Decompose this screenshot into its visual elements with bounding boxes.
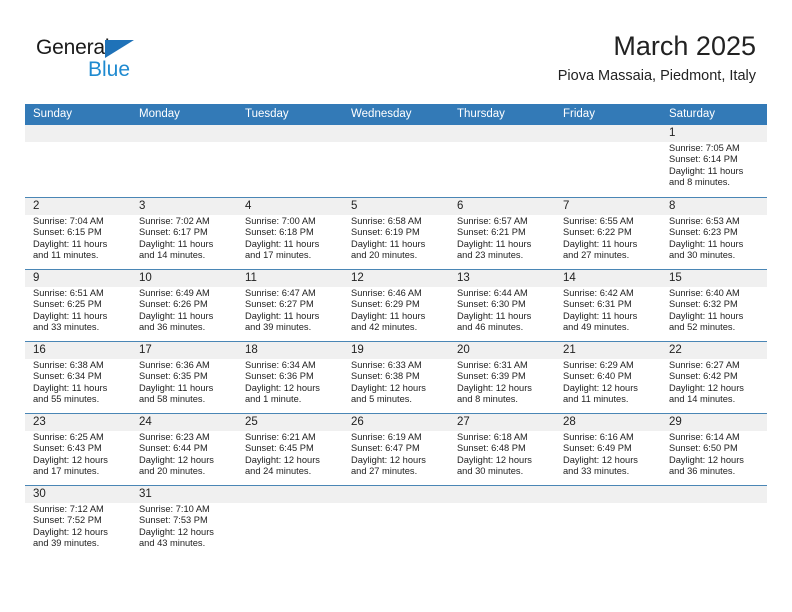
day-info-line: Daylight: 11 hours: [245, 311, 339, 322]
weekday-header-saturday: Saturday: [661, 104, 767, 125]
day-info-line: Sunrise: 6:44 AM: [457, 288, 551, 299]
day-sun-info: Sunrise: 6:36 AMSunset: 6:35 PMDaylight:…: [139, 360, 233, 405]
day-info-line: Daylight: 11 hours: [351, 239, 445, 250]
day-number: 29: [669, 414, 763, 431]
day-info-line: Sunrise: 6:18 AM: [457, 432, 551, 443]
day-number: [669, 486, 763, 503]
day-number: 14: [563, 270, 657, 287]
calendar-day-cell-empty: [343, 125, 449, 197]
calendar-day-cell-empty: [661, 486, 767, 557]
day-number: 22: [669, 342, 763, 359]
calendar-day-cell-empty: [131, 125, 237, 197]
calendar-week-cells: 30Sunrise: 7:12 AMSunset: 7:52 PMDayligh…: [25, 486, 767, 557]
day-sun-info: Sunrise: 6:40 AMSunset: 6:32 PMDaylight:…: [669, 288, 763, 333]
calendar-day-cell-empty: [237, 486, 343, 557]
day-sun-info: Sunrise: 7:02 AMSunset: 6:17 PMDaylight:…: [139, 216, 233, 261]
day-sun-info: Sunrise: 7:00 AMSunset: 6:18 PMDaylight:…: [245, 216, 339, 261]
day-info-line: Sunrise: 6:46 AM: [351, 288, 445, 299]
calendar-day-cell[interactable]: 24Sunrise: 6:23 AMSunset: 6:44 PMDayligh…: [131, 414, 237, 485]
logo-text-blue: Blue: [88, 58, 130, 82]
day-info-line: and 43 minutes.: [139, 538, 233, 549]
calendar-week-cells: 9Sunrise: 6:51 AMSunset: 6:25 PMDaylight…: [25, 270, 767, 341]
day-info-line: and 46 minutes.: [457, 322, 551, 333]
day-number: 27: [457, 414, 551, 431]
day-info-line: Sunset: 6:47 PM: [351, 443, 445, 454]
day-info-line: and 1 minute.: [245, 394, 339, 405]
day-info-line: Daylight: 11 hours: [563, 239, 657, 250]
day-info-line: Sunset: 6:31 PM: [563, 299, 657, 310]
day-info-line: Sunrise: 6:55 AM: [563, 216, 657, 227]
calendar-day-cell[interactable]: 22Sunrise: 6:27 AMSunset: 6:42 PMDayligh…: [661, 342, 767, 413]
day-info-line: Daylight: 12 hours: [563, 455, 657, 466]
day-sun-info: Sunrise: 6:27 AMSunset: 6:42 PMDaylight:…: [669, 360, 763, 405]
day-number: 6: [457, 198, 551, 215]
day-info-line: and 17 minutes.: [245, 250, 339, 261]
day-info-line: Sunset: 6:40 PM: [563, 371, 657, 382]
calendar-day-cell[interactable]: 29Sunrise: 6:14 AMSunset: 6:50 PMDayligh…: [661, 414, 767, 485]
day-info-line: Sunrise: 6:25 AM: [33, 432, 127, 443]
day-info-line: and 27 minutes.: [563, 250, 657, 261]
day-info-line: Sunset: 6:45 PM: [245, 443, 339, 454]
day-info-line: Sunrise: 7:05 AM: [669, 143, 763, 154]
day-info-line: Sunset: 6:48 PM: [457, 443, 551, 454]
day-info-line: and 8 minutes.: [669, 177, 763, 188]
day-info-line: Daylight: 11 hours: [33, 239, 127, 250]
day-number: 4: [245, 198, 339, 215]
calendar-day-cell[interactable]: 23Sunrise: 6:25 AMSunset: 6:43 PMDayligh…: [25, 414, 131, 485]
calendar-page: General Blue March 2025 Piova Massaia, P…: [0, 0, 792, 612]
day-number: 10: [139, 270, 233, 287]
day-info-line: Sunset: 6:34 PM: [33, 371, 127, 382]
day-number: 13: [457, 270, 551, 287]
day-sun-info: Sunrise: 6:18 AMSunset: 6:48 PMDaylight:…: [457, 432, 551, 477]
day-number: 17: [139, 342, 233, 359]
day-info-line: Sunset: 6:14 PM: [669, 154, 763, 165]
title-block: March 2025 Piova Massaia, Piedmont, Ital…: [558, 30, 756, 85]
day-sun-info: Sunrise: 6:42 AMSunset: 6:31 PMDaylight:…: [563, 288, 657, 333]
day-number: 12: [351, 270, 445, 287]
calendar-week-row: 23Sunrise: 6:25 AMSunset: 6:43 PMDayligh…: [25, 413, 767, 485]
day-sun-info: Sunrise: 7:05 AMSunset: 6:14 PMDaylight:…: [669, 143, 763, 188]
day-info-line: Sunset: 6:18 PM: [245, 227, 339, 238]
calendar-week-row: 1Sunrise: 7:05 AMSunset: 6:14 PMDaylight…: [25, 125, 767, 197]
day-sun-info: Sunrise: 6:53 AMSunset: 6:23 PMDaylight:…: [669, 216, 763, 261]
calendar-week-row: 9Sunrise: 6:51 AMSunset: 6:25 PMDaylight…: [25, 269, 767, 341]
day-info-line: Sunset: 6:25 PM: [33, 299, 127, 310]
calendar-week-cells: 16Sunrise: 6:38 AMSunset: 6:34 PMDayligh…: [25, 342, 767, 413]
day-info-line: Sunrise: 6:23 AM: [139, 432, 233, 443]
calendar-day-cell[interactable]: 12Sunrise: 6:46 AMSunset: 6:29 PMDayligh…: [343, 270, 449, 341]
day-info-line: Sunset: 6:44 PM: [139, 443, 233, 454]
day-info-line: Sunrise: 6:34 AM: [245, 360, 339, 371]
day-info-line: Daylight: 12 hours: [245, 455, 339, 466]
calendar-day-cell[interactable]: 26Sunrise: 6:19 AMSunset: 6:47 PMDayligh…: [343, 414, 449, 485]
calendar-day-cell[interactable]: 2Sunrise: 7:04 AMSunset: 6:15 PMDaylight…: [25, 198, 131, 269]
day-info-line: Daylight: 11 hours: [351, 311, 445, 322]
calendar-day-cell[interactable]: 4Sunrise: 7:00 AMSunset: 6:18 PMDaylight…: [237, 198, 343, 269]
calendar-day-cell[interactable]: 8Sunrise: 6:53 AMSunset: 6:23 PMDaylight…: [661, 198, 767, 269]
day-info-line: and 11 minutes.: [33, 250, 127, 261]
day-sun-info: Sunrise: 6:33 AMSunset: 6:38 PMDaylight:…: [351, 360, 445, 405]
day-sun-info: Sunrise: 6:25 AMSunset: 6:43 PMDaylight:…: [33, 432, 127, 477]
day-number: 9: [33, 270, 127, 287]
day-info-line: Daylight: 11 hours: [457, 239, 551, 250]
day-info-line: Sunset: 6:23 PM: [669, 227, 763, 238]
day-info-line: Sunrise: 6:27 AM: [669, 360, 763, 371]
day-sun-info: Sunrise: 6:14 AMSunset: 6:50 PMDaylight:…: [669, 432, 763, 477]
day-number: 25: [245, 414, 339, 431]
day-info-line: and 27 minutes.: [351, 466, 445, 477]
day-info-line: Sunrise: 6:29 AM: [563, 360, 657, 371]
day-info-line: Daylight: 12 hours: [457, 383, 551, 394]
weekday-header-row: Sunday Monday Tuesday Wednesday Thursday…: [25, 104, 767, 125]
day-info-line: and 49 minutes.: [563, 322, 657, 333]
calendar-day-cell-empty: [449, 486, 555, 557]
day-info-line: and 8 minutes.: [457, 394, 551, 405]
day-number: 19: [351, 342, 445, 359]
calendar-day-cell[interactable]: 7Sunrise: 6:55 AMSunset: 6:22 PMDaylight…: [555, 198, 661, 269]
day-info-line: Sunrise: 6:42 AM: [563, 288, 657, 299]
calendar-day-cell[interactable]: 6Sunrise: 6:57 AMSunset: 6:21 PMDaylight…: [449, 198, 555, 269]
day-info-line: Sunset: 6:26 PM: [139, 299, 233, 310]
day-info-line: and 5 minutes.: [351, 394, 445, 405]
day-info-line: Daylight: 12 hours: [351, 455, 445, 466]
day-info-line: Sunset: 6:43 PM: [33, 443, 127, 454]
calendar-day-cell-empty: [555, 486, 661, 557]
day-info-line: Daylight: 11 hours: [669, 239, 763, 250]
day-info-line: Sunset: 6:27 PM: [245, 299, 339, 310]
day-info-line: and 17 minutes.: [33, 466, 127, 477]
page-title: March 2025: [558, 30, 756, 62]
day-info-line: Sunset: 7:53 PM: [139, 515, 233, 526]
day-info-line: and 24 minutes.: [245, 466, 339, 477]
day-info-line: Sunset: 6:32 PM: [669, 299, 763, 310]
weekday-header-thursday: Thursday: [449, 104, 555, 125]
day-info-line: Daylight: 12 hours: [139, 455, 233, 466]
calendar-week-cells: 2Sunrise: 7:04 AMSunset: 6:15 PMDaylight…: [25, 198, 767, 269]
day-number: [351, 486, 445, 503]
day-number: 28: [563, 414, 657, 431]
day-number: [563, 486, 657, 503]
day-sun-info: Sunrise: 6:31 AMSunset: 6:39 PMDaylight:…: [457, 360, 551, 405]
calendar-day-cell[interactable]: 5Sunrise: 6:58 AMSunset: 6:19 PMDaylight…: [343, 198, 449, 269]
calendar-day-cell[interactable]: 18Sunrise: 6:34 AMSunset: 6:36 PMDayligh…: [237, 342, 343, 413]
day-sun-info: Sunrise: 7:10 AMSunset: 7:53 PMDaylight:…: [139, 504, 233, 549]
day-sun-info: Sunrise: 6:47 AMSunset: 6:27 PMDaylight:…: [245, 288, 339, 333]
day-number: 26: [351, 414, 445, 431]
day-info-line: Sunrise: 7:12 AM: [33, 504, 127, 515]
day-info-line: Sunset: 6:15 PM: [33, 227, 127, 238]
calendar-grid: Sunday Monday Tuesday Wednesday Thursday…: [25, 104, 767, 557]
day-info-line: and 58 minutes.: [139, 394, 233, 405]
day-info-line: Sunset: 6:35 PM: [139, 371, 233, 382]
day-info-line: Sunrise: 6:40 AM: [669, 288, 763, 299]
weekday-header-tuesday: Tuesday: [237, 104, 343, 125]
day-number: [139, 125, 233, 142]
day-info-line: Sunrise: 6:53 AM: [669, 216, 763, 227]
day-info-line: Sunset: 6:19 PM: [351, 227, 445, 238]
day-info-line: Sunrise: 6:49 AM: [139, 288, 233, 299]
day-number: 2: [33, 198, 127, 215]
day-info-line: Sunset: 6:30 PM: [457, 299, 551, 310]
calendar-day-cell[interactable]: 27Sunrise: 6:18 AMSunset: 6:48 PMDayligh…: [449, 414, 555, 485]
day-info-line: Sunrise: 6:58 AM: [351, 216, 445, 227]
calendar-day-cell[interactable]: 14Sunrise: 6:42 AMSunset: 6:31 PMDayligh…: [555, 270, 661, 341]
day-info-line: Daylight: 12 hours: [245, 383, 339, 394]
day-number: [563, 125, 657, 142]
day-info-line: and 52 minutes.: [669, 322, 763, 333]
day-info-line: Sunset: 7:52 PM: [33, 515, 127, 526]
day-info-line: and 36 minutes.: [669, 466, 763, 477]
calendar-week-cells: 1Sunrise: 7:05 AMSunset: 6:14 PMDaylight…: [25, 125, 767, 197]
day-number: 21: [563, 342, 657, 359]
day-info-line: Daylight: 12 hours: [563, 383, 657, 394]
calendar-week-row: 30Sunrise: 7:12 AMSunset: 7:52 PMDayligh…: [25, 485, 767, 557]
calendar-day-cell[interactable]: 15Sunrise: 6:40 AMSunset: 6:32 PMDayligh…: [661, 270, 767, 341]
calendar-day-cell[interactable]: 10Sunrise: 6:49 AMSunset: 6:26 PMDayligh…: [131, 270, 237, 341]
day-number: [245, 125, 339, 142]
day-sun-info: Sunrise: 6:23 AMSunset: 6:44 PMDaylight:…: [139, 432, 233, 477]
day-sun-info: Sunrise: 6:49 AMSunset: 6:26 PMDaylight:…: [139, 288, 233, 333]
day-info-line: Daylight: 12 hours: [457, 455, 551, 466]
day-info-line: Sunrise: 6:14 AM: [669, 432, 763, 443]
calendar-day-cell[interactable]: 17Sunrise: 6:36 AMSunset: 6:35 PMDayligh…: [131, 342, 237, 413]
day-info-line: Sunset: 6:38 PM: [351, 371, 445, 382]
day-info-line: Daylight: 11 hours: [669, 311, 763, 322]
day-info-line: Daylight: 12 hours: [33, 527, 127, 538]
day-info-line: Daylight: 11 hours: [139, 383, 233, 394]
calendar-day-cell[interactable]: 1Sunrise: 7:05 AMSunset: 6:14 PMDaylight…: [661, 125, 767, 197]
day-info-line: Sunrise: 6:47 AM: [245, 288, 339, 299]
day-info-line: Daylight: 11 hours: [33, 383, 127, 394]
calendar-day-cell-empty: [237, 125, 343, 197]
day-sun-info: Sunrise: 6:21 AMSunset: 6:45 PMDaylight:…: [245, 432, 339, 477]
day-number: 23: [33, 414, 127, 431]
calendar-day-cell[interactable]: 9Sunrise: 6:51 AMSunset: 6:25 PMDaylight…: [25, 270, 131, 341]
day-info-line: Sunrise: 6:51 AM: [33, 288, 127, 299]
day-sun-info: Sunrise: 6:16 AMSunset: 6:49 PMDaylight:…: [563, 432, 657, 477]
day-info-line: Daylight: 12 hours: [33, 455, 127, 466]
day-info-line: Daylight: 11 hours: [669, 166, 763, 177]
day-info-line: Sunset: 6:39 PM: [457, 371, 551, 382]
calendar-week-row: 16Sunrise: 6:38 AMSunset: 6:34 PMDayligh…: [25, 341, 767, 413]
day-info-line: and 11 minutes.: [563, 394, 657, 405]
day-info-line: Daylight: 11 hours: [139, 311, 233, 322]
day-sun-info: Sunrise: 7:04 AMSunset: 6:15 PMDaylight:…: [33, 216, 127, 261]
day-info-line: and 55 minutes.: [33, 394, 127, 405]
day-number: 5: [351, 198, 445, 215]
day-number: [351, 125, 445, 142]
calendar-day-cell[interactable]: 16Sunrise: 6:38 AMSunset: 6:34 PMDayligh…: [25, 342, 131, 413]
day-info-line: Daylight: 12 hours: [669, 455, 763, 466]
day-number: 11: [245, 270, 339, 287]
day-sun-info: Sunrise: 6:38 AMSunset: 6:34 PMDaylight:…: [33, 360, 127, 405]
triangle-flag-icon: [105, 40, 134, 58]
location-subtitle: Piova Massaia, Piedmont, Italy: [558, 67, 756, 85]
day-info-line: Daylight: 11 hours: [563, 311, 657, 322]
day-info-line: Sunrise: 6:57 AM: [457, 216, 551, 227]
calendar-day-cell[interactable]: 31Sunrise: 7:10 AMSunset: 7:53 PMDayligh…: [131, 486, 237, 557]
day-info-line: Sunset: 6:22 PM: [563, 227, 657, 238]
day-number: 30: [33, 486, 127, 503]
day-info-line: Sunrise: 7:10 AM: [139, 504, 233, 515]
calendar-day-cell-empty: [555, 125, 661, 197]
day-info-line: Sunset: 6:49 PM: [563, 443, 657, 454]
day-number: 16: [33, 342, 127, 359]
day-number: [457, 486, 551, 503]
day-info-line: Sunrise: 7:02 AM: [139, 216, 233, 227]
day-number: 15: [669, 270, 763, 287]
day-number: [457, 125, 551, 142]
day-info-line: Sunset: 6:36 PM: [245, 371, 339, 382]
day-info-line: and 20 minutes.: [351, 250, 445, 261]
day-info-line: Sunrise: 6:19 AM: [351, 432, 445, 443]
calendar-day-cell[interactable]: 19Sunrise: 6:33 AMSunset: 6:38 PMDayligh…: [343, 342, 449, 413]
calendar-day-cell-empty: [343, 486, 449, 557]
day-info-line: Sunrise: 6:31 AM: [457, 360, 551, 371]
day-sun-info: Sunrise: 6:55 AMSunset: 6:22 PMDaylight:…: [563, 216, 657, 261]
day-info-line: Daylight: 12 hours: [139, 527, 233, 538]
day-info-line: Sunset: 6:21 PM: [457, 227, 551, 238]
day-sun-info: Sunrise: 6:19 AMSunset: 6:47 PMDaylight:…: [351, 432, 445, 477]
day-info-line: and 23 minutes.: [457, 250, 551, 261]
day-info-line: Sunrise: 7:00 AM: [245, 216, 339, 227]
day-info-line: and 33 minutes.: [33, 322, 127, 333]
day-info-line: and 39 minutes.: [33, 538, 127, 549]
day-info-line: Sunrise: 6:16 AM: [563, 432, 657, 443]
day-number: 1: [669, 125, 763, 142]
day-info-line: and 39 minutes.: [245, 322, 339, 333]
weekday-header-sunday: Sunday: [25, 104, 131, 125]
day-number: [245, 486, 339, 503]
day-info-line: and 14 minutes.: [139, 250, 233, 261]
calendar-day-cell[interactable]: 3Sunrise: 7:02 AMSunset: 6:17 PMDaylight…: [131, 198, 237, 269]
day-sun-info: Sunrise: 6:51 AMSunset: 6:25 PMDaylight:…: [33, 288, 127, 333]
day-info-line: Sunrise: 6:33 AM: [351, 360, 445, 371]
calendar-day-cell[interactable]: 20Sunrise: 6:31 AMSunset: 6:39 PMDayligh…: [449, 342, 555, 413]
calendar-week-cells: 23Sunrise: 6:25 AMSunset: 6:43 PMDayligh…: [25, 414, 767, 485]
day-info-line: Sunset: 6:50 PM: [669, 443, 763, 454]
day-info-line: Daylight: 11 hours: [245, 239, 339, 250]
page-header: General Blue March 2025 Piova Massaia, P…: [0, 0, 792, 98]
calendar-day-cell[interactable]: 11Sunrise: 6:47 AMSunset: 6:27 PMDayligh…: [237, 270, 343, 341]
day-info-line: and 14 minutes.: [669, 394, 763, 405]
day-number: 24: [139, 414, 233, 431]
logo-text-general: General: [36, 36, 109, 60]
calendar-week-row: 2Sunrise: 7:04 AMSunset: 6:15 PMDaylight…: [25, 197, 767, 269]
day-info-line: Sunrise: 6:38 AM: [33, 360, 127, 371]
general-blue-logo: General Blue: [36, 36, 216, 88]
calendar-weeks: 1Sunrise: 7:05 AMSunset: 6:14 PMDaylight…: [25, 125, 767, 557]
weekday-header-friday: Friday: [555, 104, 661, 125]
day-number: 8: [669, 198, 763, 215]
day-info-line: Sunset: 6:29 PM: [351, 299, 445, 310]
day-info-line: Sunset: 6:17 PM: [139, 227, 233, 238]
day-info-line: Daylight: 12 hours: [669, 383, 763, 394]
calendar-day-cell[interactable]: 13Sunrise: 6:44 AMSunset: 6:30 PMDayligh…: [449, 270, 555, 341]
day-sun-info: Sunrise: 6:34 AMSunset: 6:36 PMDaylight:…: [245, 360, 339, 405]
calendar-day-cell[interactable]: 30Sunrise: 7:12 AMSunset: 7:52 PMDayligh…: [25, 486, 131, 557]
day-info-line: and 20 minutes.: [139, 466, 233, 477]
day-info-line: Daylight: 11 hours: [457, 311, 551, 322]
day-info-line: Daylight: 12 hours: [351, 383, 445, 394]
day-sun-info: Sunrise: 6:46 AMSunset: 6:29 PMDaylight:…: [351, 288, 445, 333]
day-info-line: and 33 minutes.: [563, 466, 657, 477]
day-number: 20: [457, 342, 551, 359]
day-sun-info: Sunrise: 6:57 AMSunset: 6:21 PMDaylight:…: [457, 216, 551, 261]
day-sun-info: Sunrise: 6:29 AMSunset: 6:40 PMDaylight:…: [563, 360, 657, 405]
day-info-line: and 42 minutes.: [351, 322, 445, 333]
day-number: 18: [245, 342, 339, 359]
calendar-day-cell-empty: [25, 125, 131, 197]
day-info-line: and 36 minutes.: [139, 322, 233, 333]
day-info-line: Sunset: 6:42 PM: [669, 371, 763, 382]
calendar-day-cell[interactable]: 21Sunrise: 6:29 AMSunset: 6:40 PMDayligh…: [555, 342, 661, 413]
day-info-line: and 30 minutes.: [669, 250, 763, 261]
day-info-line: Sunrise: 7:04 AM: [33, 216, 127, 227]
calendar-day-cell[interactable]: 28Sunrise: 6:16 AMSunset: 6:49 PMDayligh…: [555, 414, 661, 485]
weekday-header-wednesday: Wednesday: [343, 104, 449, 125]
day-info-line: Daylight: 11 hours: [139, 239, 233, 250]
day-sun-info: Sunrise: 7:12 AMSunset: 7:52 PMDaylight:…: [33, 504, 127, 549]
day-number: [33, 125, 127, 142]
day-number: 7: [563, 198, 657, 215]
day-number: 3: [139, 198, 233, 215]
day-sun-info: Sunrise: 6:44 AMSunset: 6:30 PMDaylight:…: [457, 288, 551, 333]
day-info-line: and 30 minutes.: [457, 466, 551, 477]
day-info-line: Sunrise: 6:21 AM: [245, 432, 339, 443]
day-number: 31: [139, 486, 233, 503]
day-sun-info: Sunrise: 6:58 AMSunset: 6:19 PMDaylight:…: [351, 216, 445, 261]
day-info-line: Sunrise: 6:36 AM: [139, 360, 233, 371]
calendar-day-cell[interactable]: 25Sunrise: 6:21 AMSunset: 6:45 PMDayligh…: [237, 414, 343, 485]
calendar-day-cell-empty: [449, 125, 555, 197]
day-info-line: Daylight: 11 hours: [33, 311, 127, 322]
weekday-header-monday: Monday: [131, 104, 237, 125]
